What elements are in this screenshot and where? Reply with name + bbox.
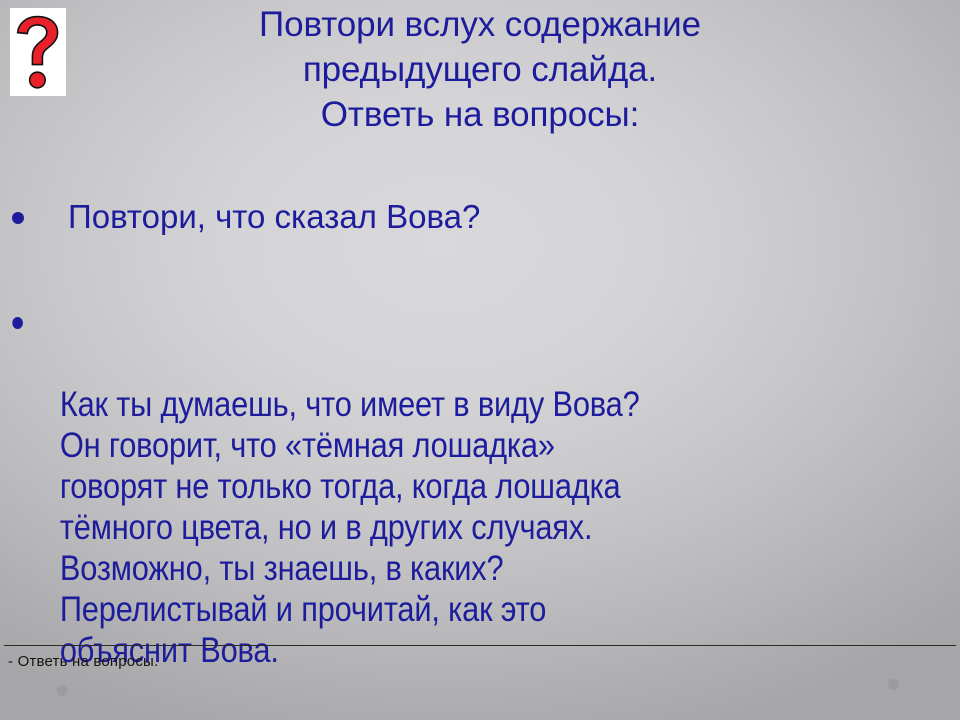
- list-item-text: Как ты думаешь, что имеет в виду Вова? О…: [60, 385, 640, 670]
- footer-note: - Ответь на вопросы.: [8, 652, 158, 672]
- bullet-list: Повтори, что сказал Вова? Как ты думаешь…: [0, 196, 960, 671]
- bullet-spacer: [0, 238, 960, 302]
- question-mark-icon: [10, 8, 66, 96]
- list-item: Повтори, что сказал Вова?: [0, 196, 960, 238]
- bullet-marker-icon: [12, 317, 23, 329]
- list-item-text: Повтори, что сказал Вова?: [68, 198, 480, 235]
- decorative-dot-icon: [888, 679, 899, 690]
- list-item: Как ты думаешь, что имеет в виду Вова? О…: [0, 302, 960, 671]
- page-title: Повтори вслух содержание предыдущего сла…: [110, 2, 850, 137]
- decorative-dot-icon: [57, 685, 68, 696]
- footer-divider: [4, 645, 956, 646]
- slide-canvas: Повтори вслух содержание предыдущего сла…: [0, 0, 960, 720]
- bullet-marker-icon: [12, 212, 24, 224]
